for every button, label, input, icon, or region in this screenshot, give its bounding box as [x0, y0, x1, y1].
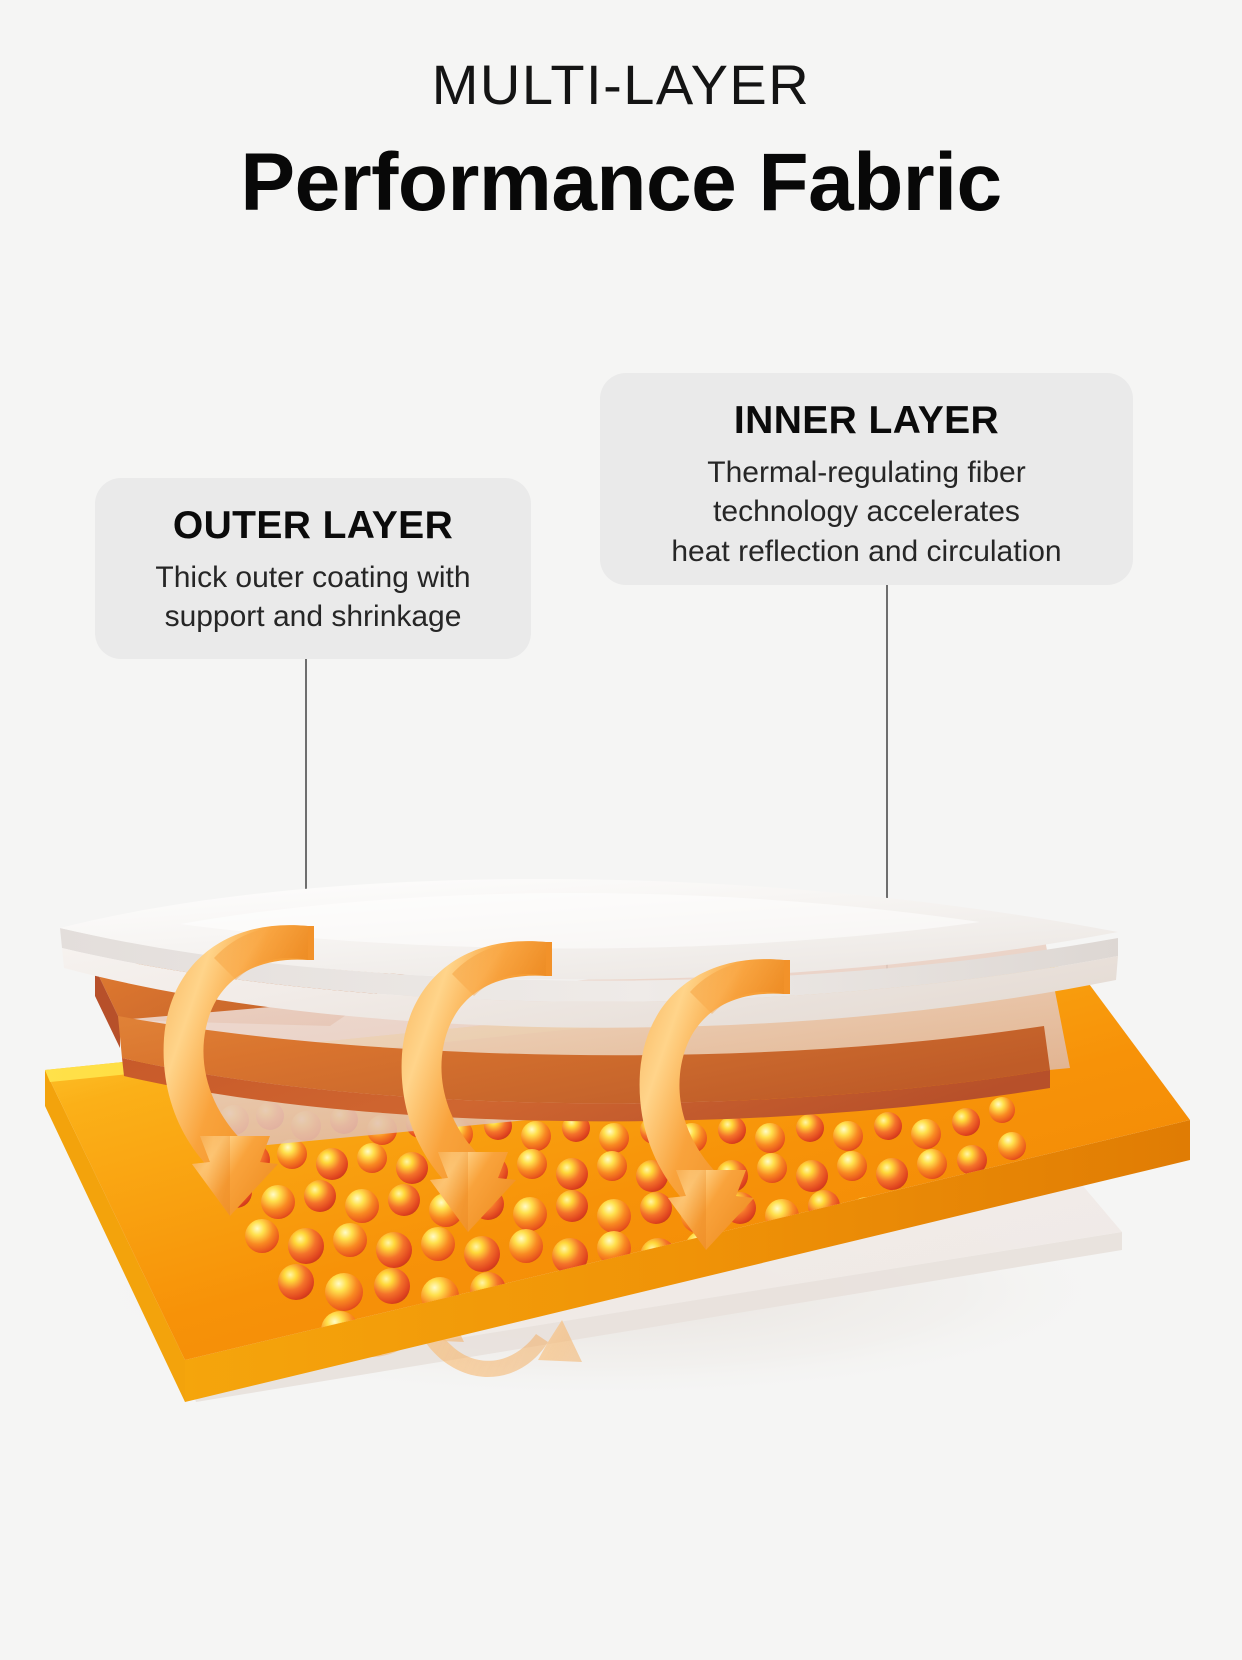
- page-title: Performance Fabric: [0, 137, 1242, 229]
- callout-title-inner-layer: INNER LAYER: [624, 399, 1109, 443]
- callout-body-inner-layer: Thermal-regulating fiber technology acce…: [624, 453, 1109, 572]
- callout-card-inner-layer[interactable]: INNER LAYER Thermal-regulating fiber tec…: [600, 373, 1133, 585]
- page-header: MULTI-LAYER Performance Fabric: [0, 0, 1242, 229]
- fabric-layers-illustration: [0, 820, 1242, 1520]
- callout-body-outer-layer: Thick outer coating with support and shr…: [119, 558, 507, 637]
- callout-card-outer-layer[interactable]: OUTER LAYER Thick outer coating with sup…: [95, 478, 531, 659]
- eyebrow-text: MULTI-LAYER: [0, 56, 1242, 115]
- callout-title-outer-layer: OUTER LAYER: [119, 504, 507, 548]
